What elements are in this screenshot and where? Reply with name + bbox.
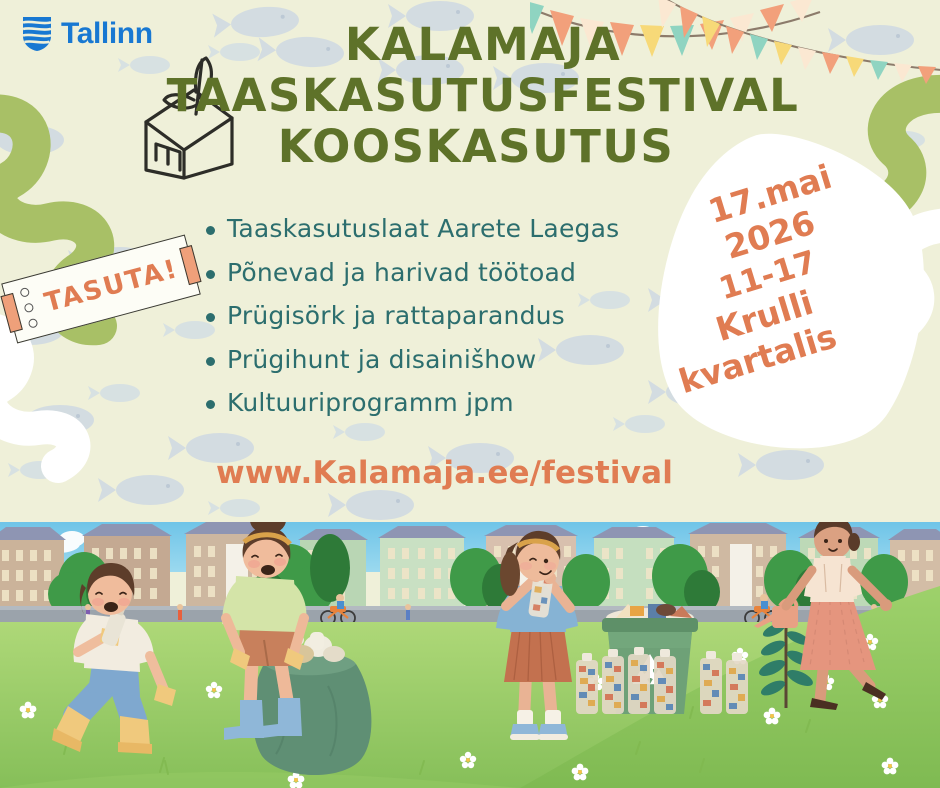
festival-illustration xyxy=(0,522,940,788)
list-item: Põnevad ja harivad töötoad xyxy=(206,257,676,289)
poster-canvas: Tallinn KALAMAJA TAASKASUTUSFESTIVAL KOO… xyxy=(0,0,940,788)
list-item-label: Põnevad ja harivad töötoad xyxy=(227,257,576,289)
list-item-label: Kultuuriprogramm jpm xyxy=(227,387,514,419)
list-item: Kultuuriprogramm jpm xyxy=(206,387,676,419)
bullet-dot-icon xyxy=(206,313,215,322)
bullet-dot-icon xyxy=(206,400,215,409)
list-item-label: Prügisörk ja rattaparandus xyxy=(227,300,565,332)
list-item: Taaskasutuslaat Aarete Laegas xyxy=(206,213,676,245)
list-item-label: Prügihunt ja disainišhow xyxy=(227,344,536,376)
list-item: Prügisörk ja rattaparandus xyxy=(206,300,676,332)
festival-website-link[interactable]: www.Kalamaja.ee/festival xyxy=(216,455,673,491)
ponytail xyxy=(500,552,520,596)
title-line-1: KALAMAJA xyxy=(26,22,940,67)
bullet-dot-icon xyxy=(206,226,215,235)
bullet-dot-icon xyxy=(206,270,215,279)
bullet-dot-icon xyxy=(206,357,215,366)
program-list: Taaskasutuslaat Aarete Laegas Põnevad ja… xyxy=(206,213,676,431)
list-item: Prügihunt ja disainišhow xyxy=(206,344,676,376)
bin-lid xyxy=(602,618,698,632)
title-line-2: TAASKASUTUSFESTIVAL xyxy=(26,73,940,118)
list-item-label: Taaskasutuslaat Aarete Laegas xyxy=(227,213,619,245)
